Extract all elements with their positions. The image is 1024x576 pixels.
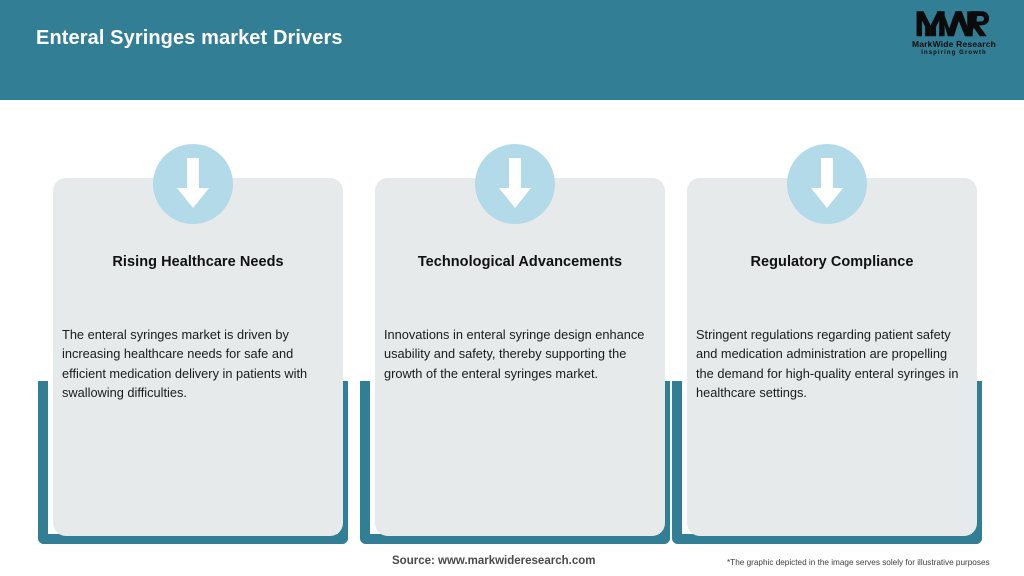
card-body-text: The enteral syringes market is driven by…: [62, 325, 330, 402]
card-body-text: Stringent regulations regarding patient …: [696, 325, 964, 402]
card-heading: Regulatory Compliance: [687, 254, 977, 270]
card-body-text: Innovations in enteral syringe design en…: [384, 325, 652, 383]
driver-card-2: Technological Advancements Innovations i…: [360, 0, 670, 576]
card-heading: Technological Advancements: [375, 254, 665, 270]
card-panel: Technological Advancements Innovations i…: [375, 178, 665, 536]
down-arrow-glyph: [497, 158, 533, 210]
down-arrow-icon: [787, 144, 867, 224]
down-arrow-glyph: [809, 158, 845, 210]
driver-card-1: Rising Healthcare Needs The enteral syri…: [38, 0, 348, 576]
driver-card-3: Regulatory Compliance Stringent regulati…: [672, 0, 982, 576]
card-panel: Rising Healthcare Needs The enteral syri…: [53, 178, 343, 536]
down-arrow-icon: [153, 144, 233, 224]
card-heading: Rising Healthcare Needs: [53, 254, 343, 270]
footer-disclaimer: *The graphic depicted in the image serve…: [727, 558, 990, 567]
down-arrow-icon: [475, 144, 555, 224]
footer-source: Source: www.markwideresearch.com: [392, 555, 595, 567]
down-arrow-glyph: [175, 158, 211, 210]
driver-cards-container: Rising Healthcare Needs The enteral syri…: [0, 0, 1024, 576]
card-panel: Regulatory Compliance Stringent regulati…: [687, 178, 977, 536]
